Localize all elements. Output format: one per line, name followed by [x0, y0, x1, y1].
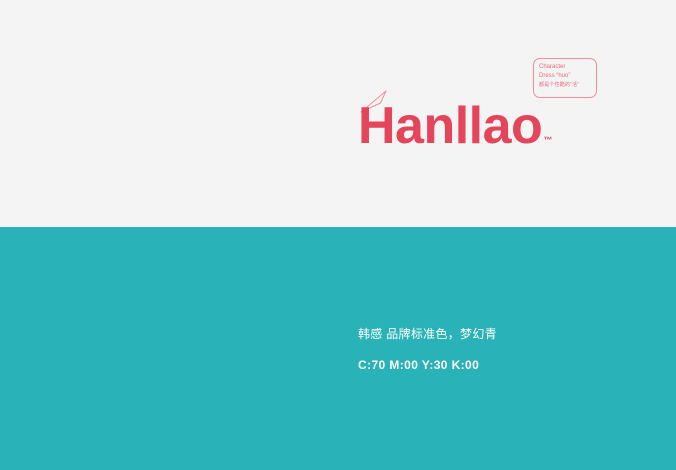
brand-guide-slide: Character Dress “huo” 都是个性酷的“活” Hanllao™… [0, 0, 676, 470]
trademark-icon: ™ [543, 135, 552, 145]
callout-bubble: Character Dress “huo” 都是个性酷的“活” [533, 58, 597, 98]
callout-bubble-text: Character Dress “huo” 都是个性酷的“活” [539, 63, 593, 90]
callout-line-3: 都是个性酷的“活” [539, 81, 593, 90]
callout-line-2: Dress “huo” [539, 72, 593, 81]
color-swatch-name: 韩感 品牌标准色，梦幻青 [358, 325, 497, 343]
brand-wordmark-text: Hanllao [358, 97, 542, 155]
callout-line-1: Character [539, 63, 593, 72]
color-swatch-panel: 韩感 品牌标准色，梦幻青 C:70 M:00 Y:30 K:00 [0, 227, 676, 470]
brand-wordmark: Hanllao™ [358, 100, 552, 152]
logo-lockup: Character Dress “huo” 都是个性酷的“活” Hanllao™ [358, 52, 608, 172]
color-swatch-info: 韩感 品牌标准色，梦幻青 C:70 M:00 Y:30 K:00 [358, 325, 497, 374]
color-swatch-cmyk: C:70 M:00 Y:30 K:00 [358, 356, 497, 374]
logo-panel: Character Dress “huo” 都是个性酷的“活” Hanllao™ [0, 0, 676, 227]
